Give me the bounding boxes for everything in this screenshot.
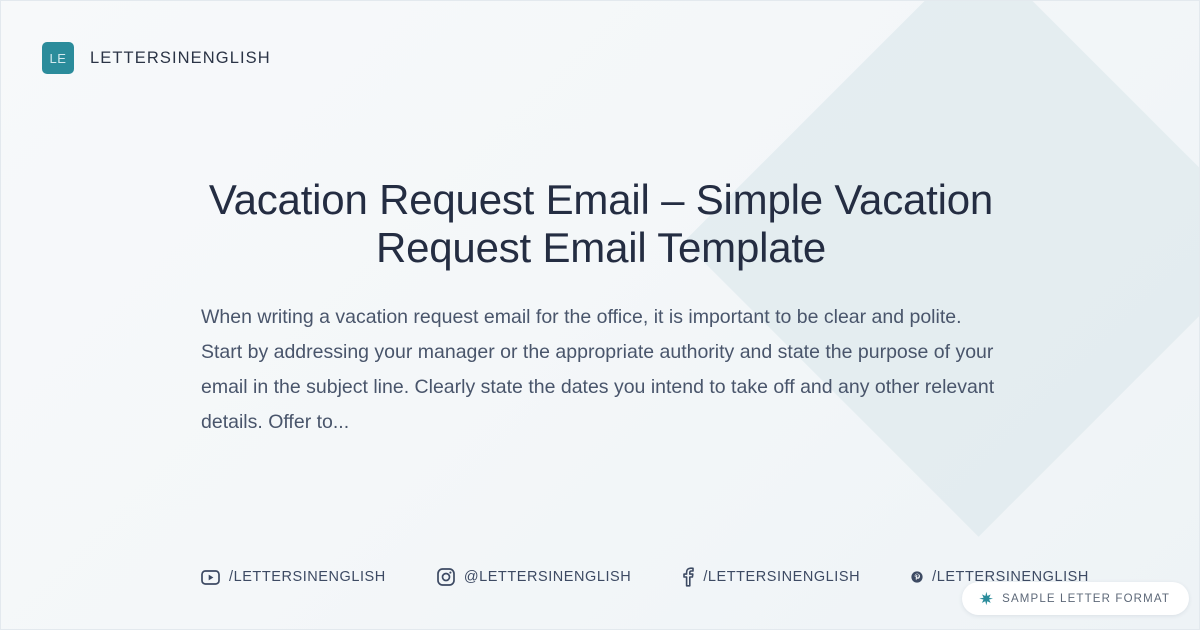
share-card: LE LETTERSINENGLISH Vacation Request Ema… xyxy=(0,0,1200,630)
sample-letter-format-badge[interactable]: SAMPLE LETTER FORMAT xyxy=(962,582,1189,615)
sample-letter-format-label: SAMPLE LETTER FORMAT xyxy=(1002,593,1170,605)
brand-badge-initials: LE xyxy=(50,51,67,66)
brand-logo[interactable]: LE LETTERSINENGLISH xyxy=(42,42,271,74)
page-summary: When writing a vacation request email fo… xyxy=(201,300,1001,440)
social-link-instagram[interactable]: @LETTERSINENGLISH xyxy=(437,568,632,586)
youtube-icon xyxy=(201,570,220,585)
social-links: /LETTERSINENGLISH @LETTERSINENGLISH /LET… xyxy=(201,567,1089,587)
bolt-icon xyxy=(978,591,993,606)
facebook-icon xyxy=(682,567,694,587)
social-handle: /LETTERSINENGLISH xyxy=(703,569,860,585)
brand-name: LETTERSINENGLISH xyxy=(90,49,271,68)
instagram-icon xyxy=(437,568,455,586)
pinterest-icon xyxy=(911,571,923,583)
social-handle: /LETTERSINENGLISH xyxy=(229,569,386,585)
brand-badge: LE xyxy=(42,42,74,74)
social-link-youtube[interactable]: /LETTERSINENGLISH xyxy=(201,569,386,585)
social-handle: @LETTERSINENGLISH xyxy=(464,569,632,585)
page-title: Vacation Request Email – Simple Vacation… xyxy=(201,176,1001,272)
social-link-facebook[interactable]: /LETTERSINENGLISH xyxy=(682,567,860,587)
main-content: Vacation Request Email – Simple Vacation… xyxy=(201,176,1001,440)
